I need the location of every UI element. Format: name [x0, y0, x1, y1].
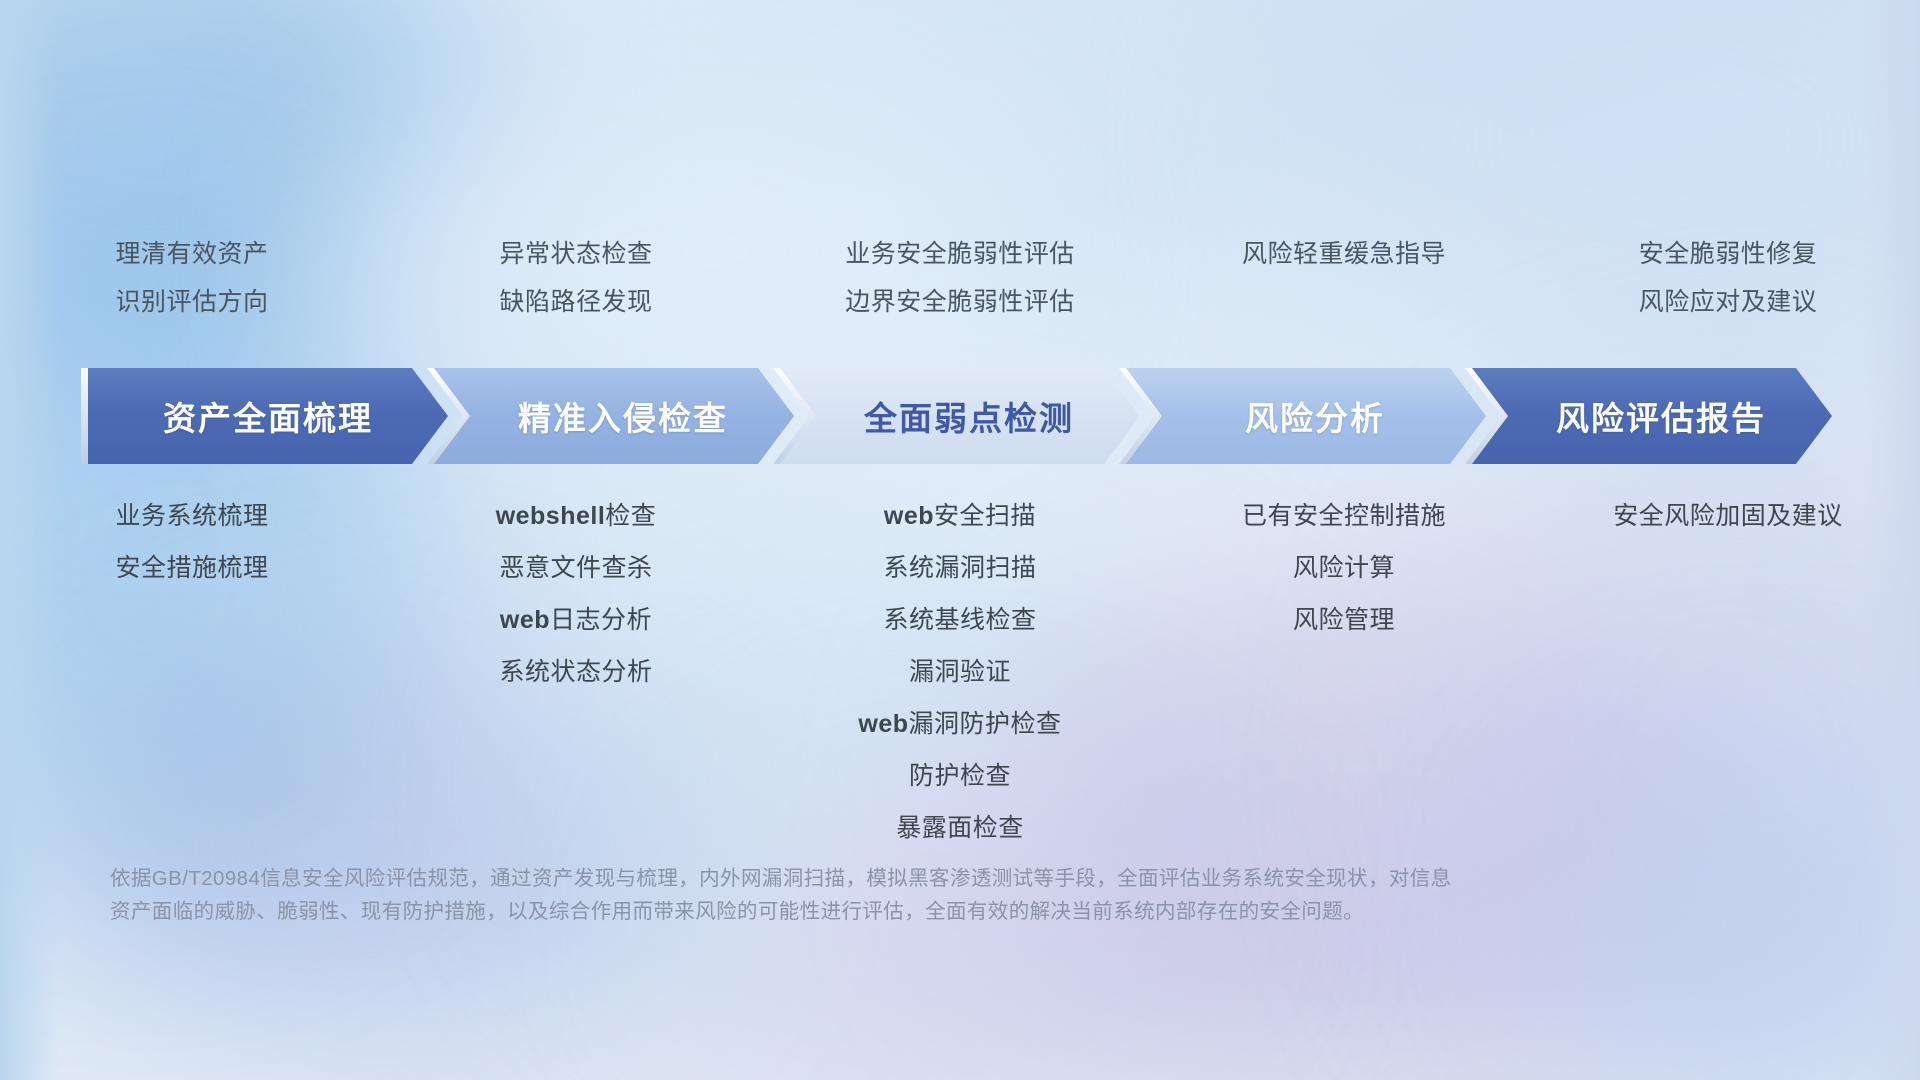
bottom-item: 业务系统梳理	[115, 490, 268, 542]
top-item: 异常状态检查	[499, 230, 652, 278]
bottom-column-5: 安全风险加固及建议	[1536, 490, 1920, 854]
bottom-item: web漏洞防护检查	[858, 698, 1061, 750]
bottom-column-3: web安全扫描系统漏洞扫描系统基线检查漏洞验证web漏洞防护检查防护检查暴露面检…	[768, 490, 1152, 854]
top-item: 识别评估方向	[115, 278, 268, 326]
top-annotation-row: 理清有效资产识别评估方向异常状态检查缺陷路径发现业务安全脆弱性评估边界安全脆弱性…	[0, 230, 1920, 326]
bottom-detail-row: 业务系统梳理安全措施梳理webshell检查恶意文件查杀web日志分析系统状态分…	[0, 490, 1920, 854]
bottom-item: 暴露面检查	[896, 802, 1024, 854]
stage-chevron-2[interactable]: 精准入侵检查	[434, 368, 794, 464]
bottom-item-latin: webshell	[496, 502, 606, 530]
bottom-item: 已有安全控制措施	[1242, 490, 1446, 542]
stage-chevron-3[interactable]: 全面弱点检测	[780, 368, 1140, 464]
top-item: 缺陷路径发现	[499, 278, 652, 326]
stage-title: 风险分析	[1245, 392, 1385, 440]
bottom-item-latin: web	[858, 710, 908, 738]
bottom-column-1: 业务系统梳理安全措施梳理	[0, 490, 384, 854]
top-column-3: 业务安全脆弱性评估边界安全脆弱性评估	[768, 230, 1152, 326]
bottom-item: 安全措施梳理	[115, 542, 268, 594]
bottom-column-4: 已有安全控制措施风险计算风险管理	[1152, 490, 1536, 854]
bottom-item: 系统状态分析	[499, 646, 652, 698]
stage-chevron-band: 资产全面梳理精准入侵检查全面弱点检测风险分析风险评估报告	[88, 368, 1832, 464]
bottom-item-cn: 漏洞防护检查	[909, 710, 1062, 738]
bottom-item: web安全扫描	[884, 490, 1036, 542]
stage-title: 全面弱点检测	[864, 392, 1074, 440]
process-diagram: 理清有效资产识别评估方向异常状态检查缺陷路径发现业务安全脆弱性评估边界安全脆弱性…	[0, 0, 1920, 1080]
bottom-item: 防护检查	[909, 750, 1011, 802]
bottom-item-cn: 安全扫描	[934, 502, 1036, 530]
top-item: 业务安全脆弱性评估	[845, 230, 1075, 278]
footer-line-1: 依据GB/T20984信息安全风险评估规范，通过资产发现与梳理，内外网漏洞扫描，…	[110, 862, 1610, 895]
bottom-item: 漏洞验证	[909, 646, 1011, 698]
stage-chevron-5[interactable]: 风险评估报告	[1472, 368, 1832, 464]
bottom-item: 恶意文件查杀	[499, 542, 652, 594]
bottom-item: 系统漏洞扫描	[883, 542, 1036, 594]
footer-description: 依据GB/T20984信息安全风险评估规范，通过资产发现与梳理，内外网漏洞扫描，…	[110, 862, 1610, 928]
stage-chevron-1[interactable]: 资产全面梳理	[88, 368, 448, 464]
bottom-item: 风险管理	[1293, 594, 1395, 646]
footer-line-2: 资产面临的威胁、脆弱性、现有防护措施，以及综合作用而带来风险的可能性进行评估，全…	[110, 895, 1610, 928]
bottom-item: 安全风险加固及建议	[1613, 490, 1843, 542]
bottom-item-cn: 检查	[605, 502, 656, 530]
top-item: 风险应对及建议	[1639, 278, 1818, 326]
top-item: 安全脆弱性修复	[1639, 230, 1818, 278]
stage-title: 资产全面梳理	[163, 392, 373, 440]
bottom-item-latin: web	[500, 606, 550, 634]
bottom-item-cn: 日志分析	[550, 606, 652, 634]
top-item: 风险轻重缓急指导	[1242, 230, 1446, 278]
bottom-item: 系统基线检查	[883, 594, 1036, 646]
bottom-column-2: webshell检查恶意文件查杀web日志分析系统状态分析	[384, 490, 768, 854]
top-item: 边界安全脆弱性评估	[845, 278, 1075, 326]
top-column-1: 理清有效资产识别评估方向	[0, 230, 384, 326]
top-column-5: 安全脆弱性修复风险应对及建议	[1536, 230, 1920, 326]
top-column-4: 风险轻重缓急指导	[1152, 230, 1536, 326]
stage-title: 风险评估报告	[1556, 392, 1766, 440]
bottom-item: 风险计算	[1293, 542, 1395, 594]
bottom-item: webshell检查	[496, 490, 657, 542]
top-item: 理清有效资产	[115, 230, 268, 278]
top-column-2: 异常状态检查缺陷路径发现	[384, 230, 768, 326]
bottom-item-latin: web	[884, 502, 934, 530]
bottom-item: web日志分析	[500, 594, 652, 646]
stage-chevron-4[interactable]: 风险分析	[1126, 368, 1486, 464]
stage-title: 精准入侵检查	[518, 392, 728, 440]
